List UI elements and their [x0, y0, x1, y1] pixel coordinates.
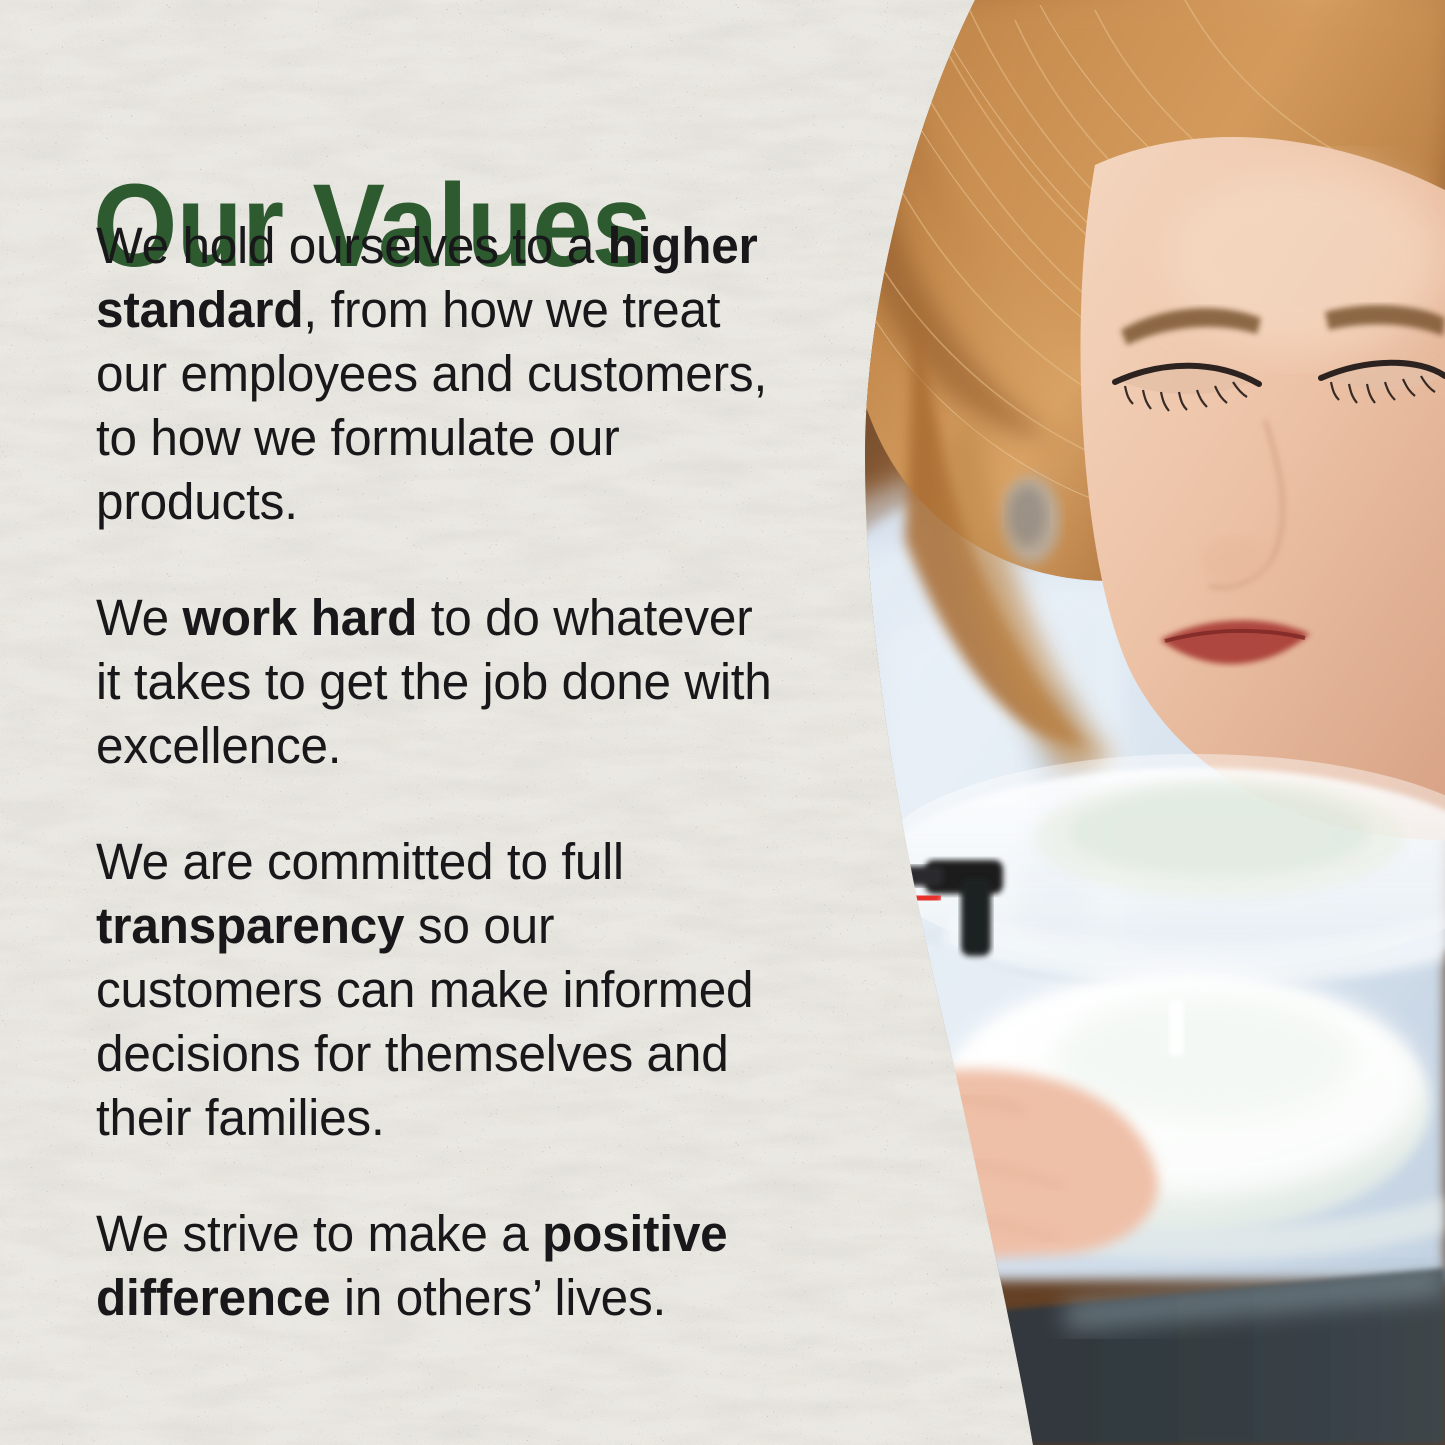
- value-text-emphasis: transparency: [96, 897, 404, 954]
- value-paragraph-higher-standard: We hold ourselves to a higher standard, …: [96, 214, 775, 534]
- values-text-column: Our Values We hold ourselves to a higher…: [0, 0, 800, 1445]
- value-text-lead: We are committed to full: [96, 833, 624, 890]
- value-text-lead: We: [96, 589, 182, 646]
- woman-formulating-product-photo: [765, 0, 1445, 1445]
- value-paragraph-positive-difference: We strive to make a positive difference …: [96, 1202, 775, 1330]
- value-text-lead: We strive to make a: [96, 1205, 542, 1262]
- value-text-emphasis: work hard: [182, 589, 417, 646]
- poster-canvas: Our Values We hold ourselves to a higher…: [0, 0, 1445, 1445]
- value-text-tail: in others’ lives.: [330, 1269, 666, 1326]
- photo-panel: [765, 0, 1445, 1445]
- value-paragraph-work-hard: We work hard to do whatever it takes to …: [96, 586, 775, 778]
- value-paragraph-transparency: We are committed to full transparency so…: [96, 830, 775, 1150]
- values-list: We hold ourselves to a higher standard, …: [96, 214, 796, 1330]
- value-text-lead: We hold ourselves to a: [96, 217, 608, 274]
